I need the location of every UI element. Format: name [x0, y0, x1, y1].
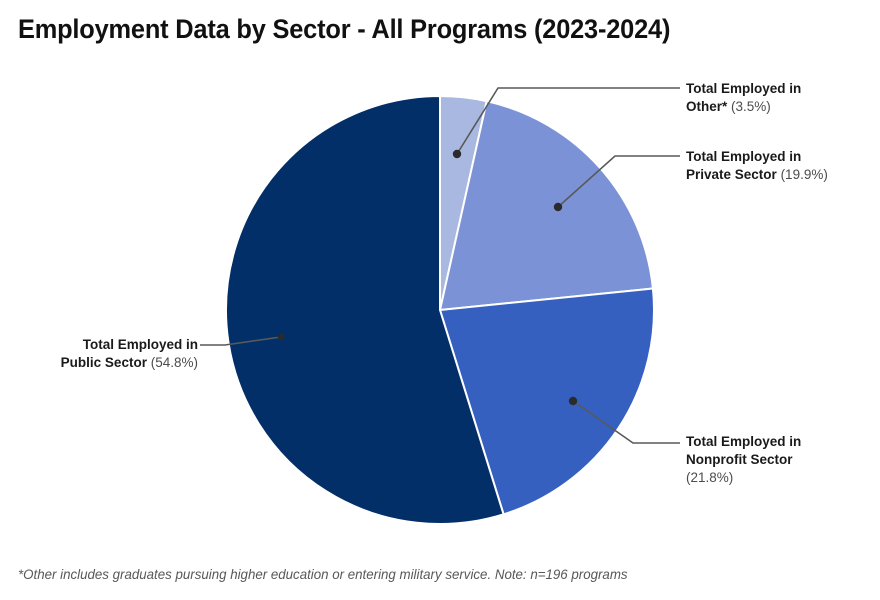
callout-public-name-line1: Total Employed in — [83, 337, 198, 352]
callout-public-percent: (54.8%) — [151, 355, 198, 370]
callout-nonprofit-percent: (21.8%) — [686, 470, 733, 485]
chart-footnote: *Other includes graduates pursuing highe… — [18, 566, 628, 582]
callout-nonprofit-name-line1: Total Employed in — [686, 434, 801, 449]
callout-other-name-line1: Total Employed in — [686, 81, 801, 96]
callout-private-name-line2: Private Sector — [686, 167, 777, 182]
callout-private-percent: (19.9%) — [781, 167, 828, 182]
callout-public-name-line2: Public Sector — [61, 355, 147, 370]
callout-private-name-line1: Total Employed in — [686, 149, 801, 164]
callout-label-private[interactable]: Total Employed in Private Sector (19.9%) — [686, 148, 880, 184]
callout-nonprofit-name-line2: Nonprofit Sector — [686, 452, 793, 467]
callout-other-percent: (3.5%) — [731, 99, 771, 114]
callout-label-public[interactable]: Total Employed in Public Sector (54.8%) — [18, 336, 198, 372]
pie-chart-figure: Employment Data by Sector - All Programs… — [0, 0, 880, 600]
callout-other-name-line2: Other* — [686, 99, 727, 114]
callout-label-nonprofit[interactable]: Total Employed in Nonprofit Sector (21.8… — [686, 433, 876, 487]
callout-label-other[interactable]: Total Employed in Other* (3.5%) — [686, 80, 876, 116]
